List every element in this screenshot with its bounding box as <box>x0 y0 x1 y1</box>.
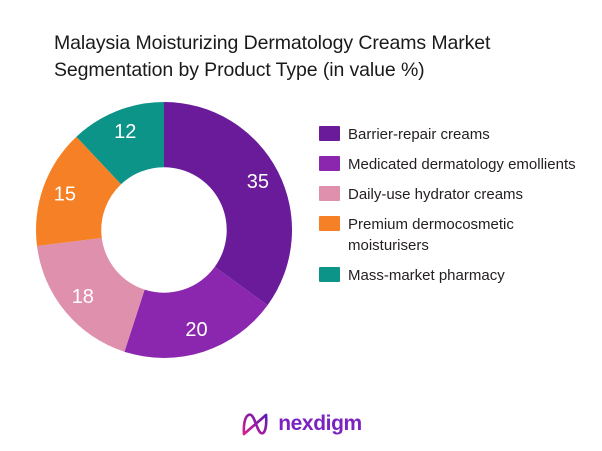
slice-value-label: 35 <box>247 171 269 193</box>
chart-page: Malaysia Moisturizing Dermatology Creams… <box>0 0 602 451</box>
legend-item[interactable]: Medicated dermatology emollients <box>319 154 584 175</box>
legend-swatch <box>319 186 340 201</box>
slice-value-label: 20 <box>185 319 207 341</box>
slice-value-label: 12 <box>114 121 136 143</box>
legend-item[interactable]: Mass-market pharmacy <box>319 265 584 286</box>
nexdigm-mark-icon <box>240 411 270 437</box>
legend-swatch <box>319 156 340 171</box>
legend-swatch <box>319 267 340 282</box>
legend-label: Barrier-repair creams <box>348 124 490 145</box>
donut-svg: 3520181512 <box>36 102 292 358</box>
donut-chart: 3520181512 <box>36 102 292 358</box>
legend-label: Mass-market pharmacy <box>348 265 505 286</box>
slice-value-label: 18 <box>72 286 94 308</box>
legend-swatch <box>319 216 340 231</box>
legend-swatch <box>319 126 340 141</box>
legend-item[interactable]: Daily-use hydrator creams <box>319 184 584 205</box>
donut-slice-layer <box>36 102 292 358</box>
legend-label: Daily-use hydrator creams <box>348 184 523 205</box>
legend-label: Premium dermocosmetic moisturisers <box>348 214 576 256</box>
chart-legend: Barrier-repair creamsMedicated dermatolo… <box>319 124 584 295</box>
chart-title: Malaysia Moisturizing Dermatology Creams… <box>54 30 574 84</box>
slice-value-label: 15 <box>54 183 76 205</box>
legend-label: Medicated dermatology emollients <box>348 154 576 175</box>
donut-slice[interactable] <box>164 102 292 305</box>
brand-logo: nexdigm <box>0 411 602 437</box>
legend-item[interactable]: Premium dermocosmetic moisturisers <box>319 214 584 256</box>
legend-item[interactable]: Barrier-repair creams <box>319 124 584 145</box>
brand-wordmark: nexdigm <box>278 412 362 436</box>
